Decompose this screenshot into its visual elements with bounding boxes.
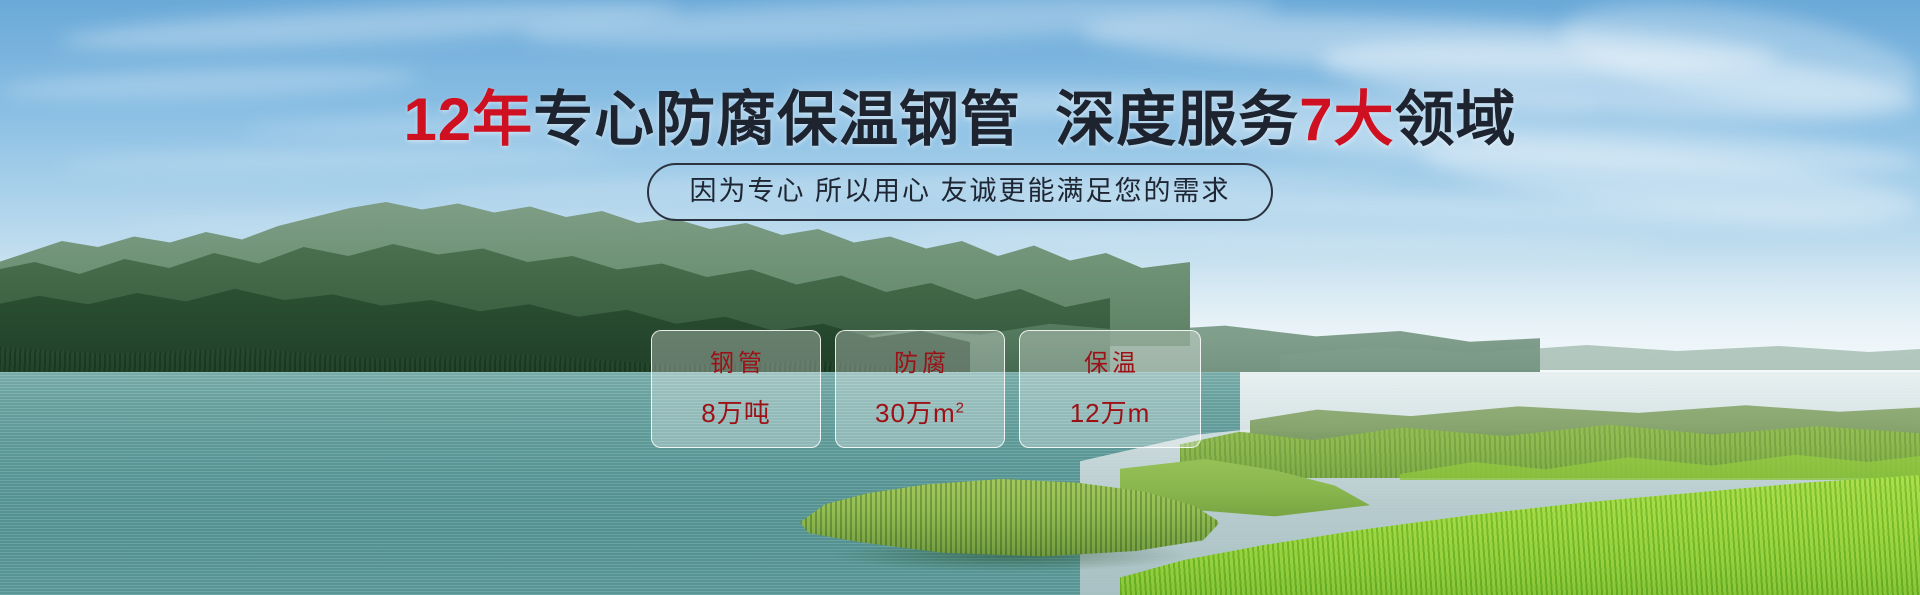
stat-card-value: 12万m [1070,397,1151,429]
stat-card-value-text: 12万m [1070,398,1151,428]
headline-main-text: 专心防腐保温钢管 [533,86,1021,153]
stat-card-anticorrosion[interactable]: 防腐 30万m2 [835,330,1005,448]
stat-card-value-superscript: 2 [956,399,965,416]
headline-service-text: 深度服务 [1055,86,1299,153]
headline-years-accent: 12年 [403,86,533,153]
cloud-streak-icon [1079,6,1780,82]
stat-card-title: 防腐 [890,349,950,379]
stat-card-value-text: 30万m [875,398,956,428]
stat-card-steel-pipe[interactable]: 钢管 8万吨 [651,330,821,448]
stat-card-value-text: 8万吨 [701,398,770,428]
cloud-streak-icon [519,0,1280,55]
headline-fields-accent: 7大 [1299,86,1394,153]
stat-card-value: 30万m2 [875,397,965,429]
cloud-streak-icon [60,0,681,58]
stat-card-title: 钢管 [706,349,766,379]
stat-card-title: 保温 [1080,349,1140,379]
hero-banner: 12年专心防腐保温钢管深度服务7大领域 因为专心 所以用心 友诚更能满足您的需求… [0,0,1920,595]
banner-subtitle-pill: 因为专心 所以用心 友诚更能满足您的需求 [647,163,1272,221]
banner-headline: 12年专心防腐保温钢管深度服务7大领域 [0,84,1920,156]
stats-card-group: 钢管 8万吨 防腐 30万m2 保温 12万m [651,330,1201,448]
headline-fields-text: 领域 [1395,86,1517,153]
banner-subtitle-container: 因为专心 所以用心 友诚更能满足您的需求 [0,163,1920,221]
stat-card-value: 8万吨 [701,397,770,429]
stat-card-insulation[interactable]: 保温 12万m [1019,330,1201,448]
